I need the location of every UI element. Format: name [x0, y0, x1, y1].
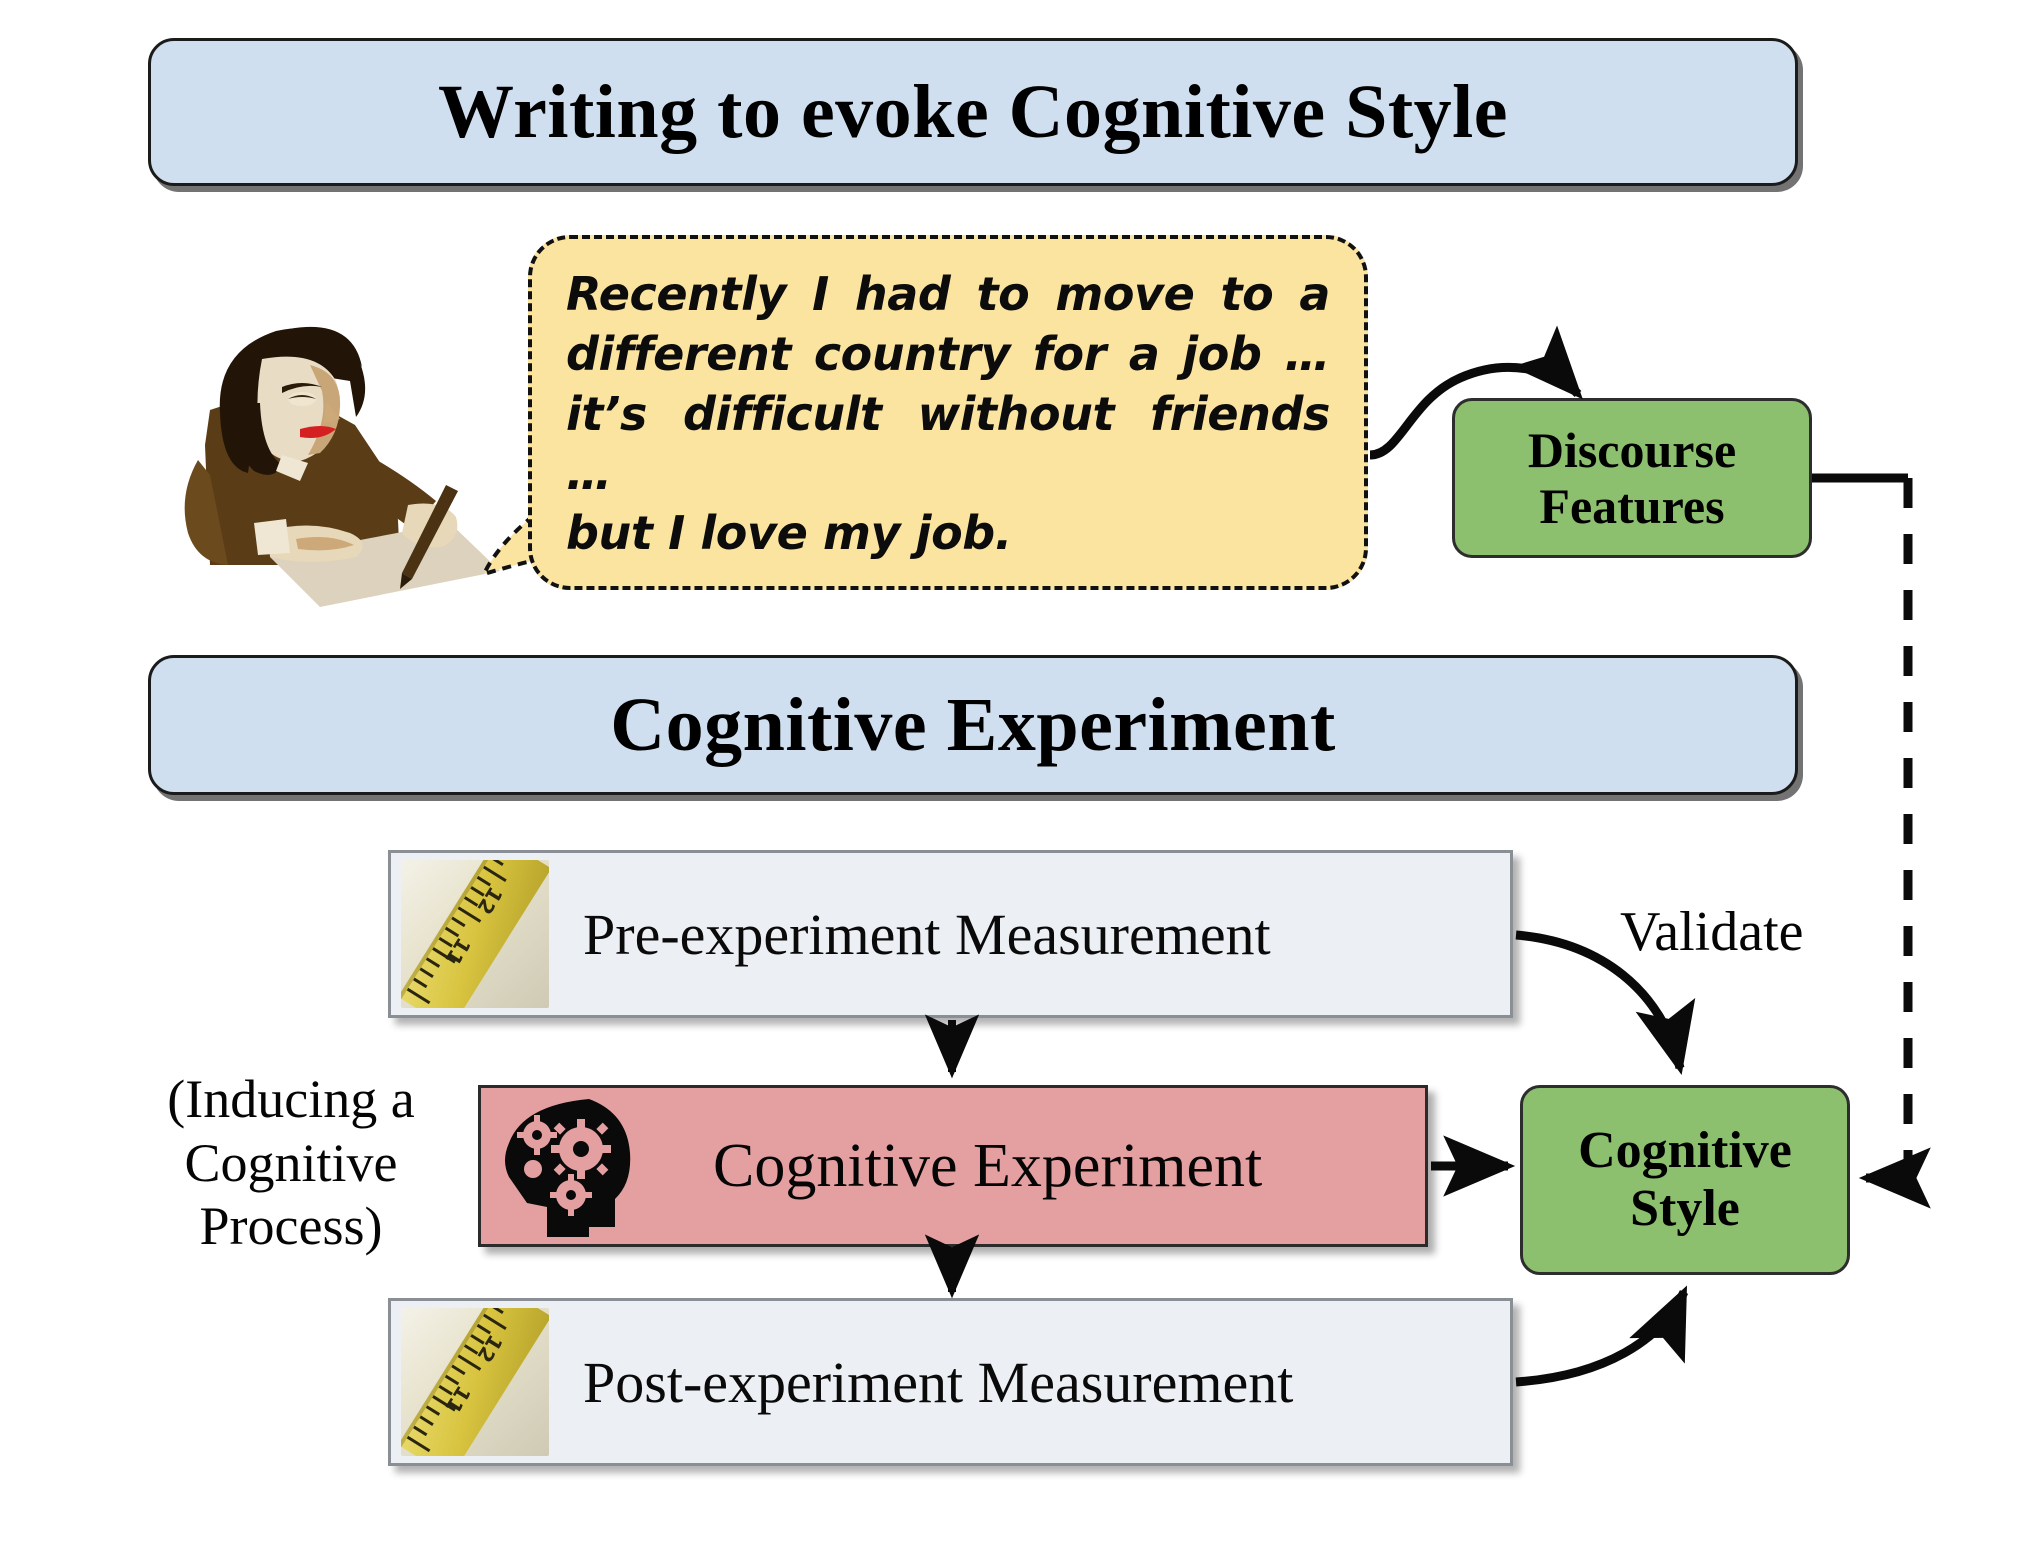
node-post-experiment-measurement[interactable]: 12 11 Post-experiment Measurement [388, 1298, 1513, 1466]
inducing-note-line1: (Inducing a [167, 1069, 414, 1129]
banner-writing-label: Writing to evoke Cognitive Style [438, 69, 1508, 156]
section-banner-cognitive-experiment: Cognitive Experiment [148, 655, 1798, 795]
discourse-features-label-line2: Features [1539, 478, 1724, 534]
speech-line-3: it’s difficult without friends … [566, 387, 1330, 501]
post-experiment-measurement-label: Post-experiment Measurement [583, 1349, 1293, 1416]
writing-sample-bubble: Recently I had to move to a different co… [528, 235, 1368, 590]
discourse-features-label-line1: Discourse [1528, 422, 1736, 478]
inducing-note-line3: Process) [200, 1196, 383, 1256]
cognitive-style-label-line1: Cognitive [1578, 1122, 1792, 1179]
arrow-post-to-cognitive-style [1516, 1292, 1684, 1382]
node-discourse-features[interactable]: Discourse Features [1452, 398, 1812, 558]
cognitive-experiment-label: Cognitive Experiment [713, 1131, 1262, 1202]
section-banner-writing: Writing to evoke Cognitive Style [148, 38, 1798, 186]
cognitive-style-label-line2: Style [1630, 1180, 1740, 1237]
writing-sample-text: Recently I had to move to a different co… [566, 265, 1330, 564]
pre-experiment-measurement-label: Pre-experiment Measurement [583, 901, 1271, 968]
ruler-icon: 12 11 [401, 1308, 549, 1456]
head-with-gears-icon [493, 1091, 643, 1241]
banner-cognitive-experiment-label: Cognitive Experiment [610, 682, 1336, 769]
validate-label-text: Validate [1620, 901, 1803, 963]
speech-line-2: different country for a job … [566, 327, 1330, 381]
speech-line-4: but I love my job. [566, 504, 1330, 564]
person-writing-icon [150, 295, 500, 615]
speech-line-1: Recently I had to move to a [566, 267, 1330, 321]
node-pre-experiment-measurement[interactable]: 12 11 Pre-experiment Measurement [388, 850, 1513, 1018]
inducing-process-note: (Inducing a Cognitive Process) [136, 1068, 446, 1259]
diagram-canvas: Writing to evoke Cognitive Style [0, 0, 2034, 1552]
inducing-note-line2: Cognitive [185, 1133, 398, 1193]
validate-edge-label: Validate [1620, 900, 1803, 964]
node-cognitive-experiment[interactable]: Cognitive Experiment [478, 1085, 1428, 1247]
node-cognitive-style[interactable]: Cognitive Style [1520, 1085, 1850, 1275]
ruler-icon: 12 11 [401, 860, 549, 1008]
